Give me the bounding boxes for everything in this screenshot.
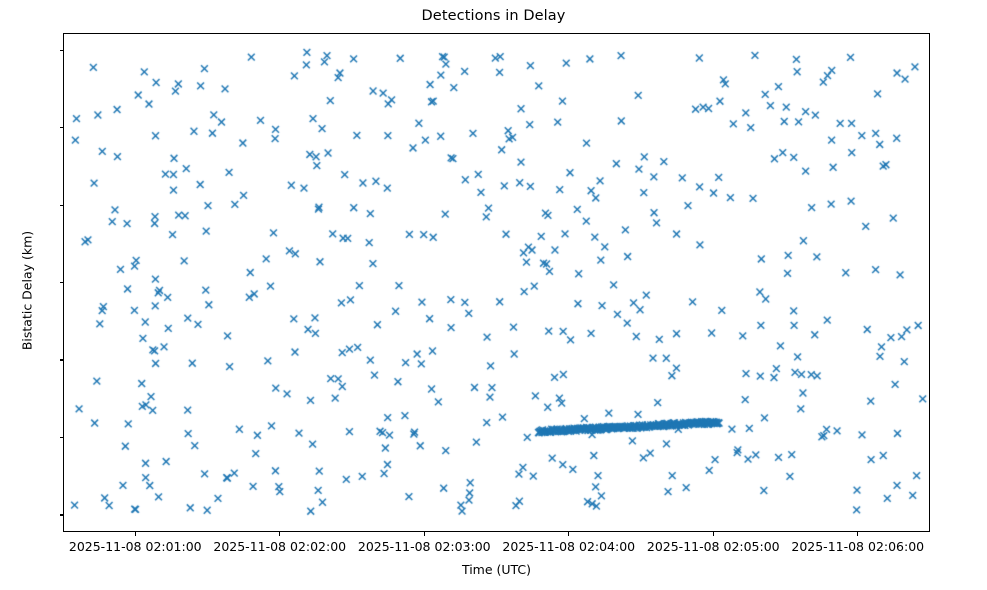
x-axis-tick-label: 2025-11-08 02:04:00: [502, 539, 635, 554]
y-axis-tick-mark: [60, 282, 64, 283]
y-axis-tick-mark: [60, 205, 64, 206]
y-axis-tick-mark: [60, 50, 64, 51]
y-axis-tick-mark: [60, 437, 64, 438]
x-axis-tick-label: 2025-11-08 02:02:00: [213, 539, 346, 554]
y-axis-label: Bistatic Delay (km): [20, 161, 35, 421]
y-axis-tick-mark: [60, 127, 64, 128]
x-axis-tick-mark: [857, 532, 858, 536]
x-axis-tick-label: 2025-11-08 02:03:00: [358, 539, 491, 554]
x-axis-tick-mark: [424, 532, 425, 536]
plot-area: [63, 33, 930, 532]
figure-canvas: Detections in Delay 0102030405060 Bistat…: [0, 0, 987, 590]
x-axis-tick-mark: [568, 532, 569, 536]
x-axis-tick-mark: [713, 532, 714, 536]
x-axis-tick-mark: [279, 532, 280, 536]
chart-title: Detections in Delay: [0, 8, 987, 24]
y-axis-tick-mark: [60, 359, 64, 360]
x-axis-tick-label: 2025-11-08 02:01:00: [69, 539, 202, 554]
x-axis-tick-label: 2025-11-08 02:05:00: [647, 539, 780, 554]
x-axis-tick-label: 2025-11-08 02:06:00: [791, 539, 924, 554]
scatter-plot-canvas: [64, 34, 930, 532]
y-axis-tick-mark: [60, 514, 64, 515]
x-axis-label: Time (UTC): [63, 562, 930, 577]
x-axis-tick-mark: [135, 532, 136, 536]
